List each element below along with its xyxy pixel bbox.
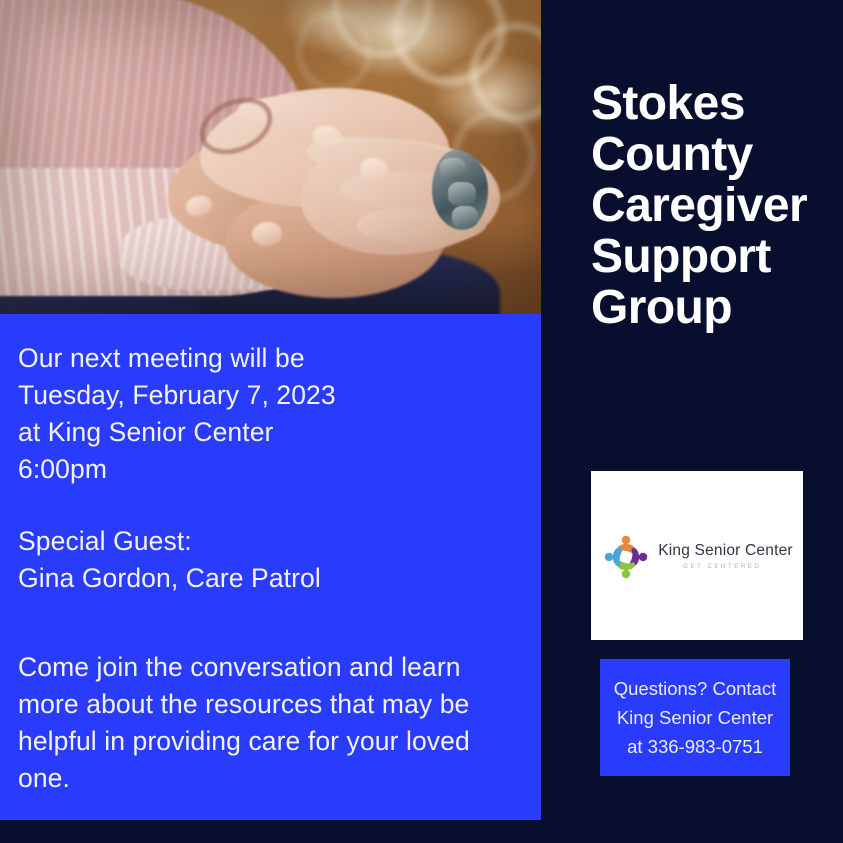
- navy-trousers: [0, 238, 420, 315]
- contact-box[interactable]: Questions? Contact King Senior Center at…: [600, 659, 790, 776]
- upholstery-background: [0, 0, 541, 315]
- younger-finger: [339, 168, 491, 216]
- damask-swirl-icon: [332, 0, 432, 58]
- title-line: Support: [591, 231, 837, 282]
- fingernail: [359, 157, 389, 182]
- meeting-line: Tuesday, February 7, 2023: [18, 377, 523, 414]
- contact-phone: at 336-983-0751: [627, 732, 763, 761]
- wrist-bangle: [191, 87, 282, 165]
- damask-swirl-icon: [470, 22, 541, 122]
- title-line: Caregiver: [591, 180, 837, 231]
- contact-line: King Senior Center: [617, 703, 773, 732]
- title-line: County: [591, 129, 837, 180]
- damask-swirl-icon: [392, 0, 506, 86]
- spacer: [18, 597, 523, 649]
- logo-tagline: GET CENTERED: [683, 564, 793, 570]
- fingernail: [251, 220, 283, 247]
- logo-name: King Senior Center: [658, 543, 793, 559]
- metal-bracelet: [432, 150, 488, 230]
- younger-hand: [200, 88, 450, 208]
- knit-cuff-edge: [120, 214, 350, 290]
- event-flyer: Our next meeting will be Tuesday, Februa…: [0, 0, 843, 843]
- younger-hand-fingers: [300, 140, 500, 255]
- damask-swirl-icon: [296, 10, 372, 92]
- pink-sweater: [0, 0, 310, 315]
- elder-finger: [205, 206, 335, 251]
- knit-cuff: [0, 168, 340, 296]
- meeting-line: at King Senior Center: [18, 414, 523, 451]
- title-line: Group: [591, 282, 837, 333]
- meeting-line: 6:00pm: [18, 451, 523, 488]
- bracelet-link: [440, 158, 466, 180]
- elder-hand: [168, 128, 418, 258]
- photo-vignette: [0, 0, 541, 315]
- special-guest-label: Special Guest:: [18, 523, 523, 560]
- page-title: Stokes County Caregiver Support Group: [591, 78, 837, 333]
- king-senior-center-logo-icon: [601, 532, 651, 582]
- announcement-panel: Our next meeting will be Tuesday, Februa…: [0, 314, 541, 820]
- meeting-line: Our next meeting will be: [18, 340, 523, 377]
- navy-trousers-knee: [200, 250, 500, 315]
- younger-finger: [304, 130, 468, 188]
- younger-finger: [356, 206, 486, 244]
- king-senior-center-logo-box: King Senior Center GET CENTERED: [591, 471, 803, 640]
- elder-finger: [186, 176, 330, 233]
- invitation-text: Come join the conversation and learn mor…: [18, 649, 523, 797]
- special-guest-name: Gina Gordon, Care Patrol: [18, 560, 523, 597]
- fingernail: [184, 193, 214, 219]
- damask-swirl-icon: [452, 110, 536, 202]
- elder-hand-lower: [225, 188, 445, 298]
- title-line: Stokes: [591, 78, 837, 129]
- bracelet-link: [452, 206, 478, 228]
- caregiver-hands-photo: [0, 0, 541, 315]
- bracelet-link: [448, 182, 476, 206]
- contact-line: Questions? Contact: [614, 674, 776, 703]
- elder-finger: [173, 145, 328, 215]
- spacer: [18, 488, 523, 523]
- younger-finger: [233, 88, 408, 161]
- fingernail: [310, 123, 344, 153]
